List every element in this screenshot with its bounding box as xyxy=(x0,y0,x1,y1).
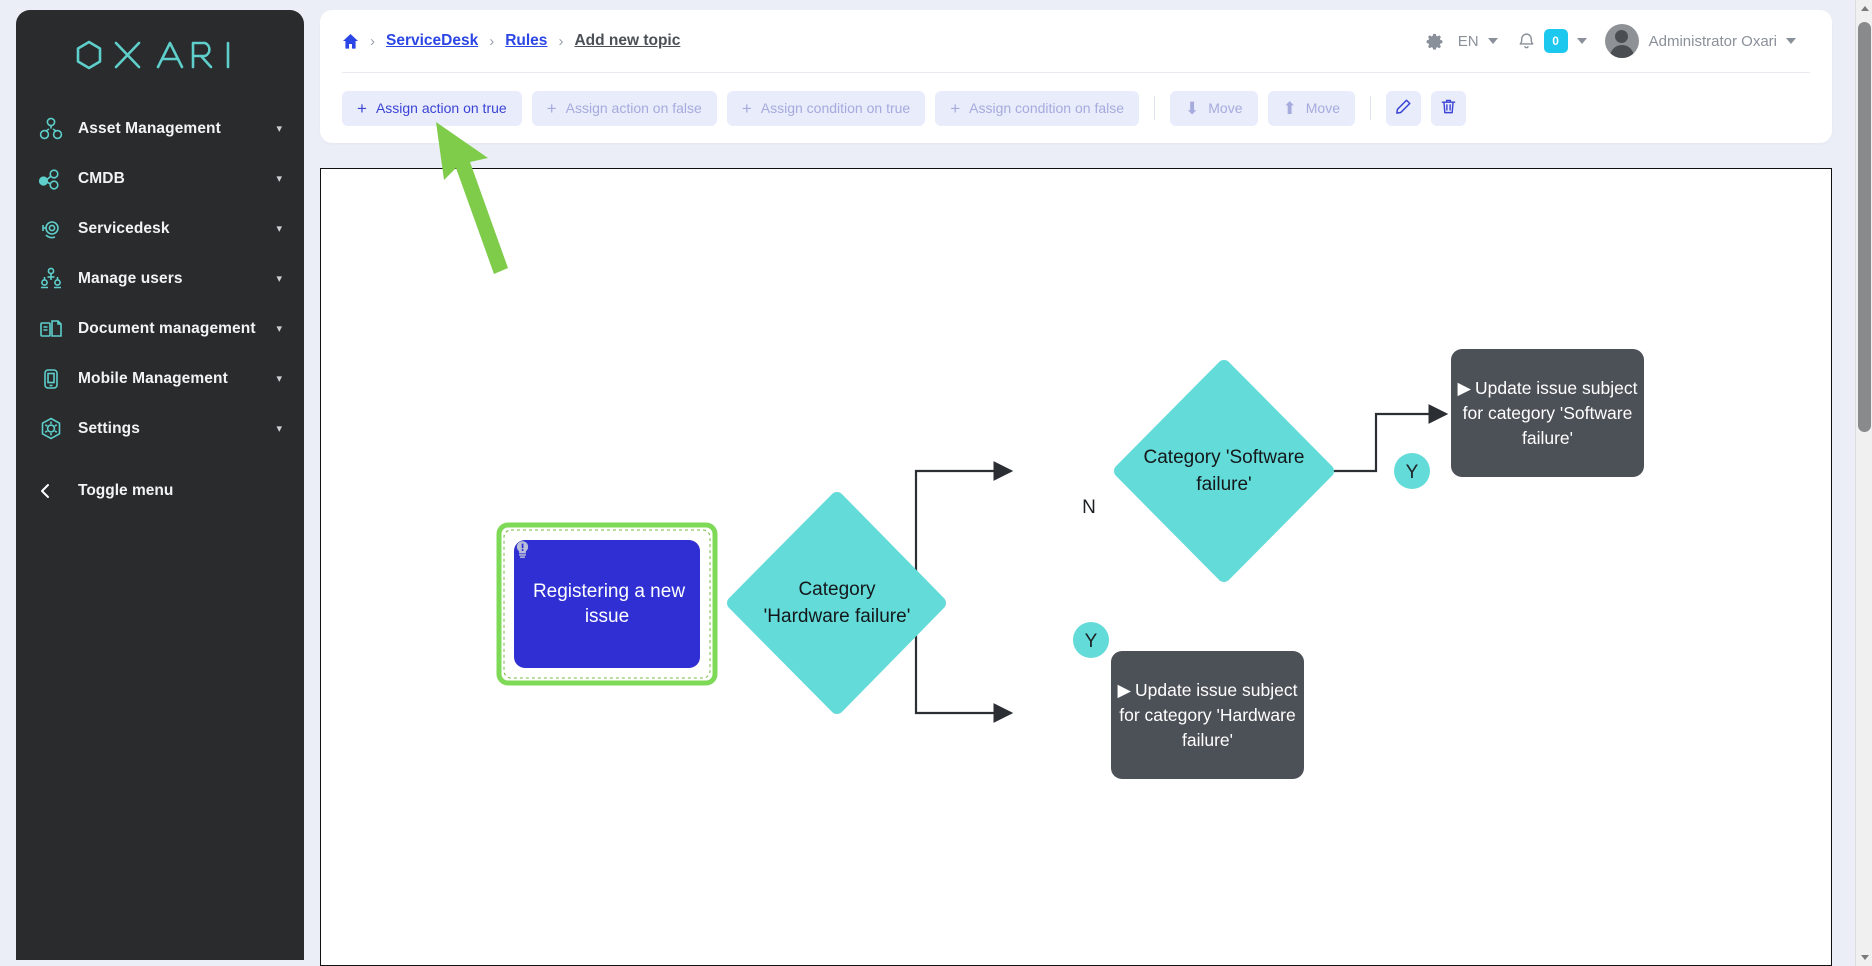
sidebar-item-label: Settings xyxy=(78,420,268,438)
sidebar-item-asset-management[interactable]: Asset Management ▾ xyxy=(16,104,304,154)
sidebar-item-label: Asset Management xyxy=(78,120,268,138)
button-label: Assign condition on false xyxy=(969,100,1124,116)
manage-users-icon xyxy=(38,263,78,295)
notifications-chevron-down-icon[interactable] xyxy=(1577,38,1587,44)
breadcrumb-separator: › xyxy=(478,33,505,50)
sidebar-item-document-management[interactable]: Document management ▾ xyxy=(16,304,304,354)
chevron-down-icon: ▾ xyxy=(276,424,282,435)
move-up-button[interactable]: ⬆ Move xyxy=(1268,91,1355,126)
sidebar-item-manage-users[interactable]: Manage users ▾ xyxy=(16,254,304,304)
language-chevron-down-icon[interactable] xyxy=(1488,38,1498,44)
flowchart-canvas[interactable]: Y Y N Registering a new issue xyxy=(320,168,1832,966)
header-card: › ServiceDesk › Rules › Add new topic EN xyxy=(320,10,1832,143)
notification-count-badge[interactable]: 0 xyxy=(1544,29,1568,53)
breadcrumb: › ServiceDesk › Rules › Add new topic xyxy=(342,32,680,50)
breadcrumb-rules[interactable]: Rules xyxy=(505,32,547,50)
breadcrumb-separator: › xyxy=(547,33,574,50)
move-down-button[interactable]: ⬇ Move xyxy=(1170,91,1257,126)
toolbar-divider xyxy=(1370,96,1371,120)
sidebar: Asset Management ▾ CMDB ▾ Servicedesk ▾ xyxy=(16,10,304,960)
breadcrumb-separator: › xyxy=(359,33,386,50)
chevron-down-icon: ▾ xyxy=(276,324,282,335)
bell-icon[interactable] xyxy=(1518,32,1535,51)
user-menu-chevron-down-icon[interactable] xyxy=(1786,38,1796,44)
sidebar-item-servicedesk[interactable]: Servicedesk ▾ xyxy=(16,204,304,254)
scrollbar-thumb[interactable] xyxy=(1858,22,1871,432)
header-controls: EN 0 Administrator Oxari xyxy=(1425,24,1806,58)
username-label[interactable]: Administrator Oxari xyxy=(1649,33,1777,50)
toggle-menu-label: Toggle menu xyxy=(78,482,173,500)
oxari-logo xyxy=(16,10,304,100)
edge-software-to-action xyxy=(1329,414,1446,471)
arrow-down-icon: ⬇ xyxy=(1185,100,1199,117)
header-bar: › ServiceDesk › Rules › Add new topic EN xyxy=(320,10,1832,72)
assign-action-on-true-button[interactable]: + Assign action on true xyxy=(342,91,522,126)
button-label: Assign action on false xyxy=(566,100,702,116)
cmdb-icon xyxy=(38,163,78,195)
language-selector[interactable]: EN xyxy=(1458,33,1479,50)
edit-button[interactable] xyxy=(1386,91,1421,126)
sidebar-item-label: Document management xyxy=(78,320,268,338)
button-label: Assign condition on true xyxy=(761,100,910,116)
breadcrumb-servicedesk[interactable]: ServiceDesk xyxy=(386,32,478,50)
assign-condition-on-false-button[interactable]: + Assign condition on false xyxy=(935,91,1139,126)
sidebar-item-label: Manage users xyxy=(78,270,268,288)
plus-icon: + xyxy=(547,100,557,117)
app-root: Asset Management ▾ CMDB ▾ Servicedesk ▾ xyxy=(0,0,1872,966)
document-management-icon xyxy=(38,313,78,345)
servicedesk-icon xyxy=(38,213,78,245)
flowchart-svg: Y Y N xyxy=(321,169,1832,966)
toolbar-divider xyxy=(1154,96,1155,120)
edge-badge-yes-software-label: Y xyxy=(1406,462,1419,483)
edge-badge-yes-hardware-label: Y xyxy=(1085,631,1098,652)
toggle-menu-button[interactable]: Toggle menu xyxy=(16,466,304,516)
sidebar-item-label: Servicedesk xyxy=(78,220,268,238)
plus-icon: + xyxy=(357,100,367,117)
home-icon[interactable] xyxy=(342,33,359,50)
chevron-down-icon: ▾ xyxy=(276,374,282,385)
chevron-down-icon: ▾ xyxy=(276,224,282,235)
page-scrollbar[interactable] xyxy=(1855,0,1872,966)
chevron-down-icon: ▾ xyxy=(276,174,282,185)
chevron-down-icon: ▾ xyxy=(276,274,282,285)
breadcrumb-current: Add new topic xyxy=(574,32,680,50)
assign-condition-on-true-button[interactable]: + Assign condition on true xyxy=(727,91,925,126)
trash-icon xyxy=(1440,98,1457,118)
sidebar-item-cmdb[interactable]: CMDB ▾ xyxy=(16,154,304,204)
start-node xyxy=(514,540,700,668)
settings-gear-icon xyxy=(38,413,78,445)
pencil-icon xyxy=(1395,98,1412,118)
sidebar-item-settings[interactable]: Settings ▾ xyxy=(16,404,304,454)
asset-management-icon xyxy=(38,113,78,145)
scrollbar-down-arrow[interactable] xyxy=(1856,949,1872,966)
decision-node-hardware xyxy=(734,499,939,707)
button-label: Move xyxy=(1306,100,1340,116)
decision-node-software xyxy=(1121,367,1327,575)
scrollbar-up-arrow[interactable] xyxy=(1856,0,1872,17)
sidebar-item-mobile-management[interactable]: Mobile Management ▾ xyxy=(16,354,304,404)
chevron-left-icon xyxy=(38,481,78,501)
sidebar-item-label: CMDB xyxy=(78,170,268,188)
mobile-management-icon xyxy=(38,363,78,395)
gear-icon[interactable] xyxy=(1425,32,1444,51)
delete-button[interactable] xyxy=(1431,91,1466,126)
arrow-up-icon: ⬆ xyxy=(1283,100,1297,117)
avatar[interactable] xyxy=(1605,24,1639,58)
chevron-down-icon: ▾ xyxy=(276,124,282,135)
plus-icon: + xyxy=(950,100,960,117)
action-node-hardware xyxy=(1111,651,1304,779)
plus-icon: + xyxy=(742,100,752,117)
button-label: Move xyxy=(1208,100,1242,116)
action-node-software xyxy=(1451,349,1644,477)
sidebar-item-label: Mobile Management xyxy=(78,370,268,388)
edge-badge-no-label: N xyxy=(1082,497,1096,518)
button-label: Assign action on true xyxy=(376,100,507,116)
toolbar: + Assign action on true + Assign action … xyxy=(320,73,1832,143)
assign-action-on-false-button[interactable]: + Assign action on false xyxy=(532,91,717,126)
